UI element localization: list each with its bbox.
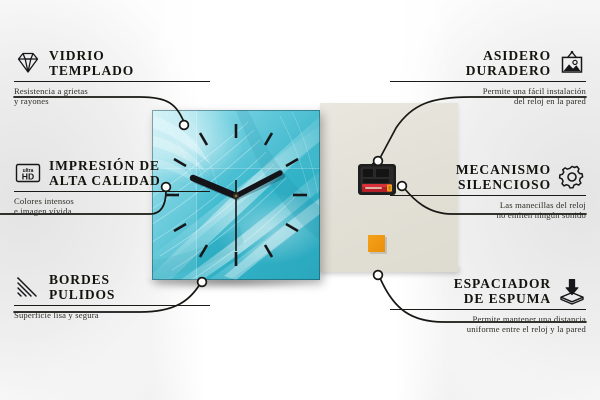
feature-mecanismo-silencioso: MECANISMO SILENCIOSO Las manecillas del … — [376, 162, 586, 221]
feature-title-line2: DE ESPUMA — [454, 291, 551, 306]
feature-espaciador-de-espuma: ESPACIADOR DE ESPUMA Permite mantener un… — [376, 276, 586, 335]
feature-title-line1: ESPACIADOR — [454, 276, 551, 291]
feature-rule — [390, 195, 586, 196]
feature-desc-line1: Superficie lisa y segura — [14, 310, 224, 320]
feature-description: Las manecillas del reloj no emiten ningú… — [376, 200, 586, 221]
picture-frame-hanger-icon — [558, 49, 586, 77]
feature-impresion-alta-calidad: ultra HD IMPRESIÓN DE ALTA CALIDAD Color… — [14, 158, 224, 217]
feature-description: Permite una fácil instalación del reloj … — [376, 86, 586, 107]
foam-spacer-arrow-icon — [558, 277, 586, 305]
feature-rule — [14, 81, 210, 82]
feature-desc-line1: Resistencia a grietas — [14, 86, 224, 96]
feature-desc-line2: e imagen vívida — [14, 206, 224, 216]
feature-header: MECANISMO SILENCIOSO — [376, 162, 586, 192]
ultra-hd-icon: ultra HD — [14, 159, 42, 187]
feature-header: BORDES PULIDOS — [14, 272, 224, 302]
feature-desc-line1: Permite una fácil instalación — [376, 86, 586, 96]
infographic-canvas: VIDRIO TEMPLADO Resistencia a grietas y … — [0, 0, 600, 400]
gear-icon — [558, 163, 586, 191]
feature-title-line1: VIDRIO — [49, 48, 134, 63]
feature-title-line2: PULIDOS — [49, 287, 115, 302]
feature-asidero-duradero: ASIDERO DURADERO Permite una fácil insta… — [376, 48, 586, 107]
feature-rule — [390, 309, 586, 310]
feature-title-line2: ALTA CALIDAD — [49, 173, 161, 188]
feature-title-line1: MECANISMO — [456, 162, 551, 177]
feature-title-line2: DURADERO — [466, 63, 551, 78]
feature-title: ASIDERO DURADERO — [466, 48, 551, 78]
feature-desc-line2: uniforme entre el reloj y la pared — [376, 324, 586, 334]
feature-title: ESPACIADOR DE ESPUMA — [454, 276, 551, 306]
feature-rule — [14, 191, 210, 192]
feature-title-line2: TEMPLADO — [49, 63, 134, 78]
polished-edges-icon — [14, 273, 42, 301]
feature-desc-line1: Colores intensos — [14, 196, 224, 206]
feature-title: BORDES PULIDOS — [49, 272, 115, 302]
feature-header: VIDRIO TEMPLADO — [14, 48, 224, 78]
feature-title: MECANISMO SILENCIOSO — [456, 162, 551, 192]
feature-desc-line2: del reloj en la pared — [376, 96, 586, 106]
feature-header: ESPACIADOR DE ESPUMA — [376, 276, 586, 306]
feature-title-line1: IMPRESIÓN DE — [49, 158, 161, 173]
feature-header: ultra HD IMPRESIÓN DE ALTA CALIDAD — [14, 158, 224, 188]
feature-title: VIDRIO TEMPLADO — [49, 48, 134, 78]
feature-title-line2: SILENCIOSO — [456, 177, 551, 192]
ultra-hd-big-label: HD — [22, 171, 34, 181]
feature-title-line1: BORDES — [49, 272, 115, 287]
feature-header: ASIDERO DURADERO — [376, 48, 586, 78]
feature-description: Resistencia a grietas y rayones — [14, 86, 224, 107]
feature-desc-line2: y rayones — [14, 96, 224, 106]
feature-rule — [390, 81, 586, 82]
feature-desc-line1: Las manecillas del reloj — [376, 200, 586, 210]
feature-desc-line2: no emiten ningún sonido — [376, 210, 586, 220]
feature-title-line1: ASIDERO — [466, 48, 551, 63]
feature-description: Permite mantener una distancia uniforme … — [376, 314, 586, 335]
feature-title: IMPRESIÓN DE ALTA CALIDAD — [49, 158, 161, 188]
feature-bordes-pulidos: BORDES PULIDOS Superficie lisa y segura — [14, 272, 224, 320]
feature-desc-line1: Permite mantener una distancia — [376, 314, 586, 324]
feature-vidrio-templado: VIDRIO TEMPLADO Resistencia a grietas y … — [14, 48, 224, 107]
feature-rule — [14, 305, 210, 306]
diamond-icon — [14, 49, 42, 77]
feature-description: Superficie lisa y segura — [14, 310, 224, 320]
node-vidrio — [180, 121, 189, 130]
feature-description: Colores intensos e imagen vívida — [14, 196, 224, 217]
